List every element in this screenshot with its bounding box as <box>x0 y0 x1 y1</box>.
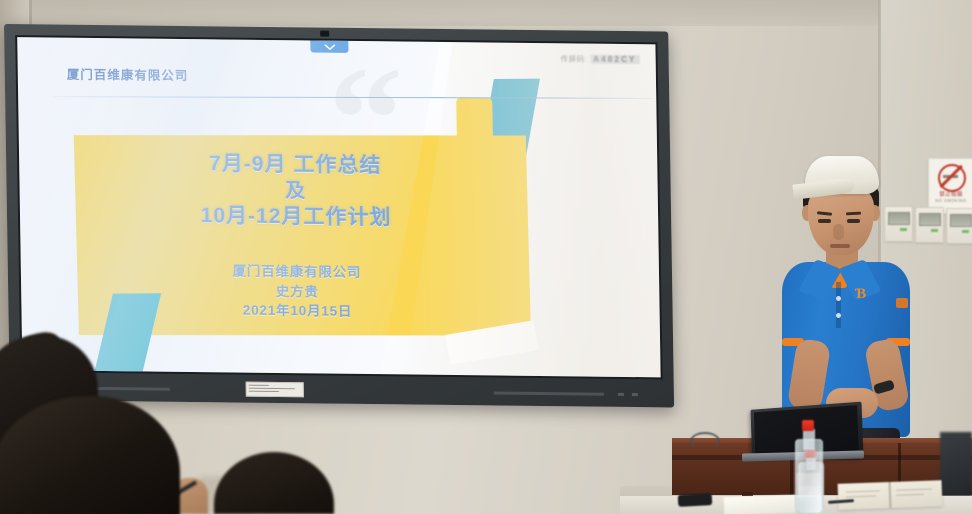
slide-title: 7月-9月 工作总结 及 10月-12月工作计划 <box>75 150 516 234</box>
bottle-label <box>796 473 820 497</box>
water-bottle-front <box>795 420 821 514</box>
slide-title-line-3: 10月-12月工作计划 <box>76 202 517 234</box>
shirt-button-2 <box>836 313 841 318</box>
wall-switch-panel-3[interactable] <box>946 208 972 244</box>
shirt-placket <box>836 282 841 328</box>
toolbar-pulldown-tab[interactable] <box>310 40 348 52</box>
bottle-neck <box>803 429 814 450</box>
switch-led-icon <box>962 230 969 233</box>
display-spec-sticker <box>246 382 304 398</box>
camera-icon <box>320 31 329 37</box>
presenter-nose <box>833 224 844 240</box>
presentation-slide[interactable]: “ 厦门百维康有限公司 7月-9月 工作总结 及 10月-12月工作计划 厦门百… <box>17 37 660 377</box>
notebook-spine <box>889 482 892 508</box>
chevron-down-icon <box>324 43 335 50</box>
papers-on-desk <box>724 495 797 514</box>
cap-logo <box>822 166 842 173</box>
interactive-flat-panel-display[interactable]: “ 厦门百维康有限公司 7月-9月 工作总结 及 10月-12月工作计划 厦门百… <box>4 24 674 407</box>
bottle-cap-icon <box>802 420 814 431</box>
screencast-code-label: 传屏码: <box>560 53 587 64</box>
wall-upper-band <box>0 0 972 26</box>
photo-scene: 禁止吸烟 NO SMOKING “ 厦门百维康有限公司 <box>0 0 972 514</box>
display-button-2[interactable] <box>632 393 638 396</box>
open-notebook <box>838 480 943 510</box>
presenter-mouth <box>830 244 850 248</box>
cable <box>690 432 720 450</box>
presenter-eye-right <box>847 219 860 223</box>
shirt-button-1 <box>836 296 841 301</box>
phone-on-desk[interactable] <box>678 493 713 507</box>
switch-window-icon <box>950 214 972 227</box>
sleeve-badge <box>896 298 908 308</box>
screencast-code-value: A482CY <box>590 55 640 65</box>
display-button-1[interactable] <box>618 393 624 396</box>
side-monitor <box>940 432 972 496</box>
slide-subtitle: 厦门百维康有限公司 史方贵 2021年10月15日 <box>77 260 518 324</box>
screencast-code-badge: 传屏码: A482CY <box>560 53 639 65</box>
shirt-chest-logo: Ɓ <box>855 286 875 306</box>
prohibition-circle-icon <box>938 164 966 192</box>
slide-company-header: 厦门百维康有限公司 <box>67 64 189 84</box>
presenter-eye-left <box>818 219 831 223</box>
